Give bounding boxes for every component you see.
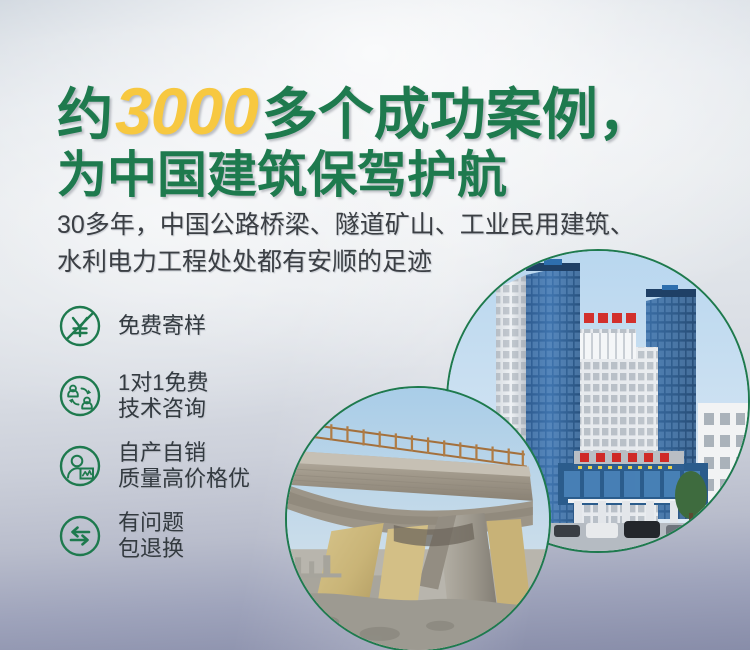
two-people-exchange-icon	[58, 374, 102, 418]
feature-item-free-sample[interactable]: 免费寄样	[58, 300, 348, 352]
feature-label: 1对1免费 技术咨询	[118, 370, 208, 422]
feature-label-line-2: 质量高价格优	[118, 466, 250, 492]
no-fee-yuan-icon	[58, 304, 102, 348]
headline-number: 3000	[113, 74, 262, 148]
person-chart-icon	[58, 444, 102, 488]
headline-suffix: 多个成功案例，	[262, 83, 654, 146]
subtitle-line-1: 30多年，中国公路桥梁、隧道矿山、工业民用建筑、	[57, 207, 635, 244]
feature-label-line-2: 技术咨询	[118, 396, 208, 422]
feature-label-line-2: 包退换	[118, 536, 184, 562]
page-title: 约3000多个成功案例， 为中国建筑保驾护航	[57, 78, 654, 200]
headline-prefix: 约	[57, 83, 113, 146]
headline-line-2: 为中国建筑保驾护航	[57, 150, 654, 200]
feature-label: 有问题 包退换	[118, 510, 184, 562]
feature-label-line-1: 免费寄样	[118, 313, 206, 338]
feature-item-self-produced[interactable]: 自产自销 质量高价格优	[58, 440, 348, 492]
feature-item-return-exchange[interactable]: 有问题 包退换	[58, 510, 348, 562]
feature-label: 免费寄样	[118, 313, 206, 339]
feature-label: 自产自销 质量高价格优	[118, 440, 250, 492]
promo-banner: 约3000多个成功案例， 为中国建筑保驾护航 30多年，中国公路桥梁、隧道矿山、…	[0, 0, 750, 650]
feature-label-line-1: 有问题	[118, 510, 184, 536]
feature-list: 免费寄样	[58, 300, 348, 580]
feature-item-consulting[interactable]: 1对1免费 技术咨询	[58, 370, 348, 422]
feature-label-line-1: 自产自销	[118, 440, 250, 466]
headline-line-1: 约3000多个成功案例，	[57, 78, 654, 144]
two-way-arrows-icon	[58, 514, 102, 558]
feature-label-line-1: 1对1免费	[118, 370, 208, 396]
